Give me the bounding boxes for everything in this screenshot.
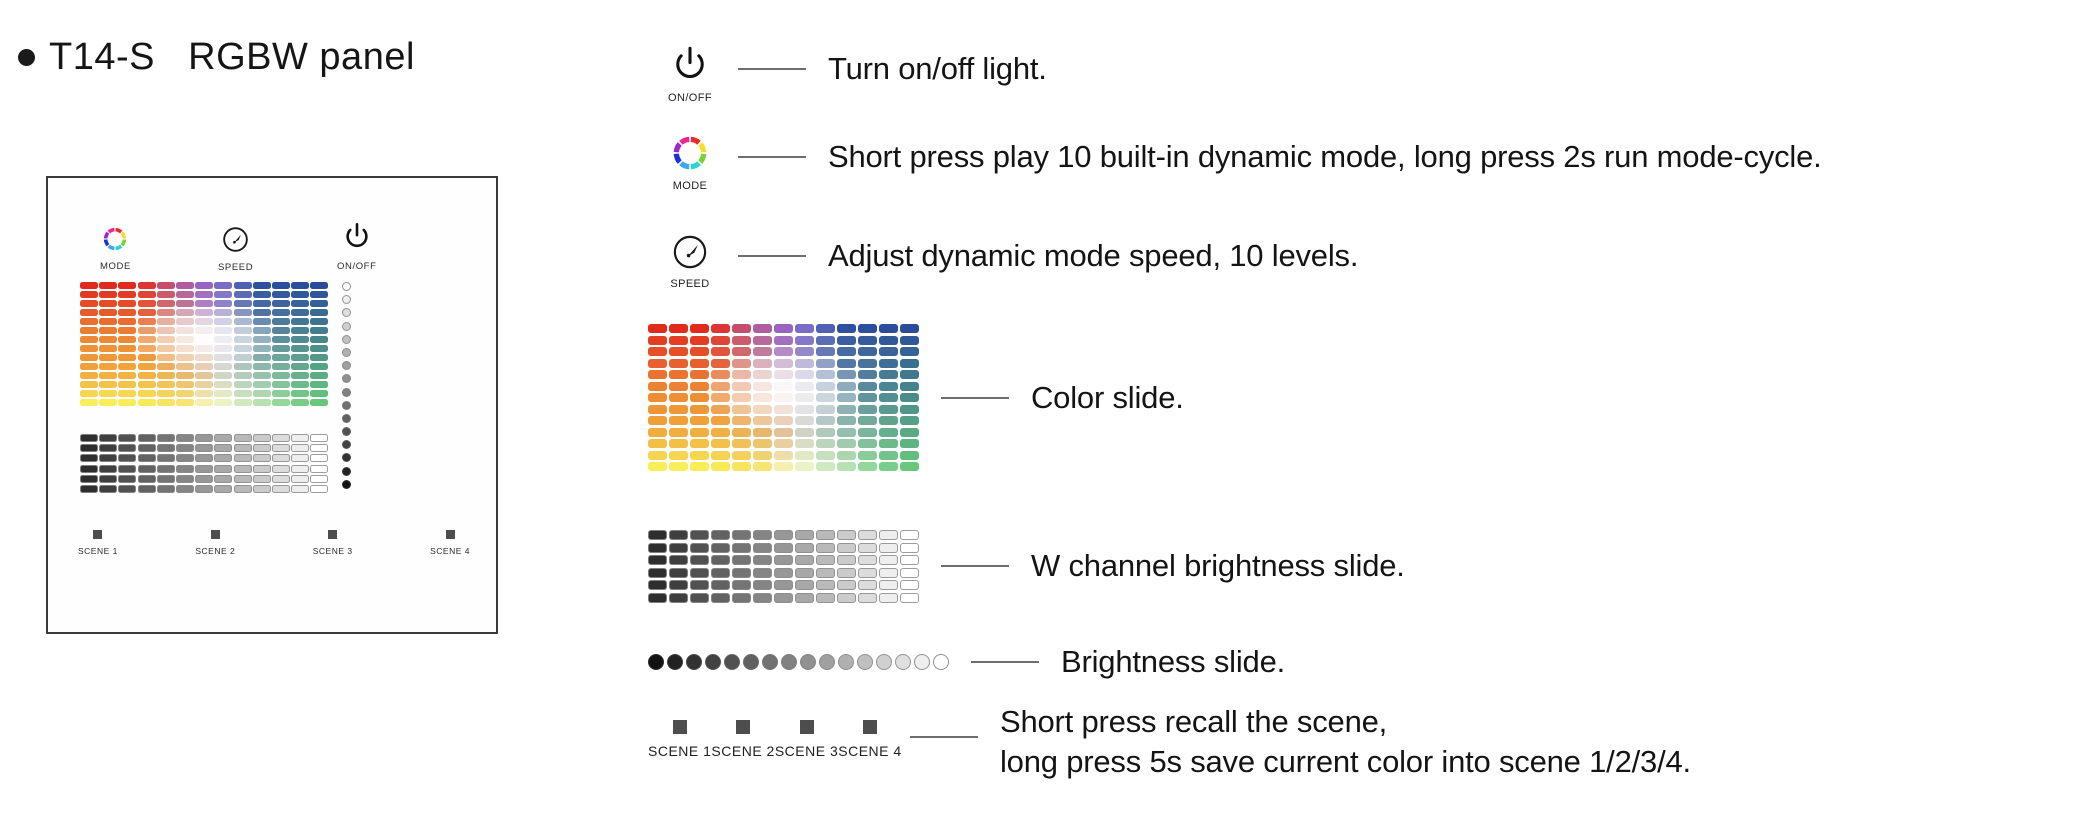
w-brightness-cell[interactable] (99, 475, 117, 483)
color-slide-cell[interactable] (879, 393, 898, 402)
w-brightness-cell[interactable] (753, 530, 772, 540)
w-brightness-cell[interactable] (118, 454, 136, 462)
color-slide-cell[interactable] (157, 354, 175, 361)
brightness-dot[interactable] (342, 374, 351, 383)
w-brightness-cell[interactable] (157, 434, 175, 442)
color-slide-cell[interactable] (80, 309, 98, 316)
w-brightness-cell[interactable] (879, 543, 898, 553)
legend-scene-button[interactable]: SCENE 4 (838, 720, 901, 759)
legend-scene-button[interactable]: SCENE 1 (648, 720, 711, 759)
color-slide-cell[interactable] (272, 291, 290, 298)
w-brightness-cell[interactable] (118, 475, 136, 483)
color-slide-cell[interactable] (837, 405, 856, 414)
w-brightness-cell[interactable] (732, 580, 751, 590)
color-slide-cell[interactable] (795, 324, 814, 333)
panel-scene-button[interactable]: SCENE 1 (78, 530, 118, 556)
color-slide-cell[interactable] (879, 359, 898, 368)
color-slide-cell[interactable] (795, 416, 814, 425)
color-slide-cell[interactable] (732, 439, 751, 448)
color-slide-cell[interactable] (176, 363, 194, 370)
color-slide-cell[interactable] (879, 416, 898, 425)
color-slide-cell[interactable] (253, 309, 271, 316)
color-slide-cell[interactable] (858, 347, 877, 356)
color-slide-cell[interactable] (648, 393, 667, 402)
w-brightness-cell[interactable] (711, 593, 730, 603)
color-slide-cell[interactable] (214, 282, 232, 289)
brightness-dot[interactable] (342, 282, 351, 291)
w-brightness-cell[interactable] (648, 555, 667, 565)
color-slide-cell[interactable] (900, 439, 919, 448)
color-slide-cell[interactable] (195, 336, 213, 343)
brightness-dot[interactable] (724, 654, 740, 670)
color-slide-cell[interactable] (711, 382, 730, 391)
color-slide-cell[interactable] (80, 390, 98, 397)
color-slide-cell[interactable] (732, 382, 751, 391)
w-brightness-cell[interactable] (837, 555, 856, 565)
color-slide-cell[interactable] (118, 372, 136, 379)
panel-w-brightness-grid[interactable] (80, 434, 328, 493)
color-slide-cell[interactable] (669, 428, 688, 437)
w-brightness-cell[interactable] (795, 543, 814, 553)
color-slide-cell[interactable] (80, 327, 98, 334)
w-brightness-cell[interactable] (900, 530, 919, 540)
w-brightness-cell[interactable] (900, 543, 919, 553)
color-slide-cell[interactable] (195, 399, 213, 406)
w-brightness-cell[interactable] (900, 580, 919, 590)
color-slide-cell[interactable] (176, 318, 194, 325)
color-slide-cell[interactable] (291, 291, 309, 298)
color-slide-cell[interactable] (176, 282, 194, 289)
w-brightness-cell[interactable] (157, 465, 175, 473)
color-slide-cell[interactable] (99, 363, 117, 370)
color-slide-cell[interactable] (195, 390, 213, 397)
color-slide-cell[interactable] (690, 324, 709, 333)
color-slide-cell[interactable] (816, 439, 835, 448)
color-slide-cell[interactable] (138, 282, 156, 289)
color-slide-cell[interactable] (291, 363, 309, 370)
color-slide-cell[interactable] (837, 428, 856, 437)
color-slide-cell[interactable] (234, 390, 252, 397)
w-brightness-cell[interactable] (214, 465, 232, 473)
color-slide-cell[interactable] (310, 345, 328, 352)
color-slide-cell[interactable] (214, 309, 232, 316)
color-slide-cell[interactable] (176, 399, 194, 406)
color-slide-cell[interactable] (234, 318, 252, 325)
brightness-dot[interactable] (743, 654, 759, 670)
w-brightness-cell[interactable] (690, 530, 709, 540)
color-slide-cell[interactable] (176, 345, 194, 352)
brightness-dot[interactable] (342, 401, 351, 410)
w-brightness-cell[interactable] (80, 434, 98, 442)
color-slide-cell[interactable] (157, 318, 175, 325)
color-slide-cell[interactable] (176, 390, 194, 397)
color-slide-cell[interactable] (195, 318, 213, 325)
w-brightness-cell[interactable] (291, 444, 309, 452)
color-slide-cell[interactable] (837, 462, 856, 471)
w-brightness-cell[interactable] (795, 568, 814, 578)
brightness-dot[interactable] (342, 414, 351, 423)
brightness-dot[interactable] (800, 654, 816, 670)
color-slide-cell[interactable] (711, 428, 730, 437)
color-slide-cell[interactable] (253, 327, 271, 334)
color-slide-cell[interactable] (291, 372, 309, 379)
brightness-dot[interactable] (342, 348, 351, 357)
color-slide-cell[interactable] (234, 336, 252, 343)
brightness-dot[interactable] (686, 654, 702, 670)
color-slide-cell[interactable] (879, 336, 898, 345)
w-brightness-cell[interactable] (157, 475, 175, 483)
w-brightness-cell[interactable] (118, 434, 136, 442)
brightness-dot[interactable] (667, 654, 683, 670)
w-brightness-cell[interactable] (176, 454, 194, 462)
color-slide-cell[interactable] (99, 300, 117, 307)
color-slide-cell[interactable] (795, 428, 814, 437)
color-slide-cell[interactable] (80, 354, 98, 361)
color-slide-cell[interactable] (879, 382, 898, 391)
color-slide-cell[interactable] (732, 370, 751, 379)
color-slide-cell[interactable] (291, 345, 309, 352)
color-slide-cell[interactable] (753, 324, 772, 333)
color-slide-cell[interactable] (816, 416, 835, 425)
color-slide-cell[interactable] (157, 363, 175, 370)
color-slide-cell[interactable] (753, 393, 772, 402)
w-brightness-cell[interactable] (732, 543, 751, 553)
color-slide-cell[interactable] (690, 370, 709, 379)
color-slide-cell[interactable] (272, 318, 290, 325)
color-slide-cell[interactable] (753, 347, 772, 356)
w-brightness-cell[interactable] (310, 434, 328, 442)
w-brightness-cell[interactable] (837, 568, 856, 578)
color-slide-cell[interactable] (272, 300, 290, 307)
color-slide-cell[interactable] (900, 347, 919, 356)
w-brightness-cell[interactable] (80, 454, 98, 462)
color-slide-cell[interactable] (816, 428, 835, 437)
color-slide-cell[interactable] (732, 336, 751, 345)
color-slide-cell[interactable] (900, 370, 919, 379)
color-slide-cell[interactable] (648, 370, 667, 379)
color-slide-cell[interactable] (176, 354, 194, 361)
color-slide-cell[interactable] (291, 390, 309, 397)
color-slide-cell[interactable] (272, 372, 290, 379)
w-brightness-cell[interactable] (176, 485, 194, 493)
w-brightness-cell[interactable] (669, 580, 688, 590)
w-brightness-cell[interactable] (900, 568, 919, 578)
w-brightness-cell[interactable] (690, 543, 709, 553)
brightness-dot[interactable] (819, 654, 835, 670)
color-slide-cell[interactable] (291, 309, 309, 316)
w-brightness-cell[interactable] (234, 434, 252, 442)
brightness-dot[interactable] (895, 654, 911, 670)
color-slide-cell[interactable] (669, 405, 688, 414)
w-brightness-cell[interactable] (858, 580, 877, 590)
w-brightness-cell[interactable] (753, 593, 772, 603)
color-slide-cell[interactable] (753, 451, 772, 460)
color-slide-cell[interactable] (648, 324, 667, 333)
color-slide-cell[interactable] (176, 327, 194, 334)
color-slide-cell[interactable] (711, 439, 730, 448)
color-slide-cell[interactable] (690, 393, 709, 402)
color-slide-cell[interactable] (291, 354, 309, 361)
panel-scene-button[interactable]: SCENE 4 (430, 530, 470, 556)
color-slide-cell[interactable] (157, 291, 175, 298)
w-brightness-cell[interactable] (291, 465, 309, 473)
color-slide-cell[interactable] (648, 416, 667, 425)
w-brightness-cell[interactable] (272, 444, 290, 452)
color-slide-cell[interactable] (118, 309, 136, 316)
color-slide-cell[interactable] (272, 363, 290, 370)
color-slide-cell[interactable] (795, 347, 814, 356)
color-slide-cell[interactable] (157, 282, 175, 289)
color-slide-cell[interactable] (310, 309, 328, 316)
w-brightness-cell[interactable] (795, 555, 814, 565)
panel-brightness-slide[interactable] (342, 282, 351, 489)
color-slide-cell[interactable] (795, 370, 814, 379)
w-brightness-cell[interactable] (774, 568, 793, 578)
w-brightness-cell[interactable] (900, 555, 919, 565)
color-slide-cell[interactable] (176, 372, 194, 379)
color-slide-cell[interactable] (900, 393, 919, 402)
color-slide-cell[interactable] (711, 359, 730, 368)
w-brightness-cell[interactable] (711, 580, 730, 590)
w-brightness-cell[interactable] (795, 593, 814, 603)
color-slide-cell[interactable] (234, 327, 252, 334)
color-slide-cell[interactable] (648, 336, 667, 345)
w-brightness-cell[interactable] (253, 485, 271, 493)
color-slide-cell[interactable] (879, 405, 898, 414)
w-brightness-cell[interactable] (669, 543, 688, 553)
w-brightness-cell[interactable] (253, 454, 271, 462)
color-slide-cell[interactable] (858, 393, 877, 402)
color-slide-cell[interactable] (234, 363, 252, 370)
w-brightness-cell[interactable] (176, 444, 194, 452)
color-slide-cell[interactable] (648, 405, 667, 414)
color-slide-cell[interactable] (99, 390, 117, 397)
brightness-dot[interactable] (342, 467, 351, 476)
color-slide-cell[interactable] (858, 451, 877, 460)
brightness-dot[interactable] (648, 654, 664, 670)
w-brightness-cell[interactable] (80, 475, 98, 483)
color-slide-cell[interactable] (795, 439, 814, 448)
color-slide-cell[interactable] (753, 370, 772, 379)
color-slide-cell[interactable] (690, 462, 709, 471)
color-slide-cell[interactable] (669, 462, 688, 471)
legend-scene-button[interactable]: SCENE 2 (711, 720, 774, 759)
color-slide-cell[interactable] (837, 382, 856, 391)
color-slide-cell[interactable] (837, 359, 856, 368)
brightness-dot[interactable] (342, 322, 351, 331)
color-slide-cell[interactable] (310, 354, 328, 361)
color-slide-cell[interactable] (253, 345, 271, 352)
panel-color-slide-grid[interactable] (80, 282, 328, 406)
color-slide-cell[interactable] (310, 291, 328, 298)
color-slide-cell[interactable] (690, 347, 709, 356)
color-slide-cell[interactable] (214, 345, 232, 352)
color-slide-cell[interactable] (774, 462, 793, 471)
color-slide-cell[interactable] (291, 399, 309, 406)
w-brightness-cell[interactable] (879, 593, 898, 603)
color-slide-cell[interactable] (711, 416, 730, 425)
w-brightness-cell[interactable] (310, 475, 328, 483)
color-slide-cell[interactable] (80, 381, 98, 388)
color-slide-cell[interactable] (795, 451, 814, 460)
legend-figure-w-grid[interactable] (648, 530, 919, 603)
color-slide-cell[interactable] (80, 363, 98, 370)
color-slide-cell[interactable] (99, 399, 117, 406)
color-slide-cell[interactable] (234, 399, 252, 406)
color-slide-cell[interactable] (138, 372, 156, 379)
color-slide-cell[interactable] (195, 345, 213, 352)
w-brightness-cell[interactable] (774, 593, 793, 603)
color-slide-cell[interactable] (774, 336, 793, 345)
color-slide-cell[interactable] (118, 399, 136, 406)
w-brightness-cell[interactable] (711, 530, 730, 540)
w-brightness-cell[interactable] (711, 568, 730, 578)
color-slide-cell[interactable] (176, 381, 194, 388)
color-slide-cell[interactable] (195, 291, 213, 298)
color-slide-cell[interactable] (732, 451, 751, 460)
color-slide-cell[interactable] (879, 370, 898, 379)
w-brightness-cell[interactable] (858, 543, 877, 553)
brightness-dot[interactable] (342, 427, 351, 436)
brightness-dot[interactable] (342, 335, 351, 344)
color-slide-cell[interactable] (711, 347, 730, 356)
color-slide-cell[interactable] (669, 347, 688, 356)
color-slide-cell[interactable] (711, 451, 730, 460)
w-brightness-cell[interactable] (253, 444, 271, 452)
color-slide-cell[interactable] (690, 416, 709, 425)
color-slide-cell[interactable] (272, 282, 290, 289)
color-slide-cell[interactable] (138, 381, 156, 388)
color-slide-cell[interactable] (138, 390, 156, 397)
legend-figure-speed[interactable]: SPEED (648, 234, 732, 290)
color-slide-cell[interactable] (195, 327, 213, 334)
w-brightness-cell[interactable] (272, 465, 290, 473)
w-brightness-cell[interactable] (648, 568, 667, 578)
w-brightness-cell[interactable] (157, 454, 175, 462)
w-brightness-cell[interactable] (795, 580, 814, 590)
color-slide-cell[interactable] (879, 462, 898, 471)
w-brightness-cell[interactable] (310, 465, 328, 473)
color-slide-cell[interactable] (837, 439, 856, 448)
brightness-dot[interactable] (342, 308, 351, 317)
color-slide-cell[interactable] (99, 372, 117, 379)
w-brightness-cell[interactable] (774, 555, 793, 565)
color-slide-cell[interactable] (176, 291, 194, 298)
legend-scene-button[interactable]: SCENE 3 (775, 720, 838, 759)
w-brightness-cell[interactable] (176, 434, 194, 442)
color-slide-cell[interactable] (732, 462, 751, 471)
color-slide-cell[interactable] (795, 462, 814, 471)
w-brightness-cell[interactable] (795, 530, 814, 540)
color-slide-cell[interactable] (732, 359, 751, 368)
color-slide-cell[interactable] (837, 393, 856, 402)
color-slide-cell[interactable] (879, 324, 898, 333)
color-slide-cell[interactable] (138, 300, 156, 307)
w-brightness-cell[interactable] (195, 454, 213, 462)
color-slide-cell[interactable] (195, 309, 213, 316)
w-brightness-cell[interactable] (648, 593, 667, 603)
w-brightness-cell[interactable] (214, 454, 232, 462)
color-slide-cell[interactable] (214, 381, 232, 388)
color-slide-cell[interactable] (310, 336, 328, 343)
legend-figure-mode[interactable]: MODE (648, 134, 732, 192)
w-brightness-cell[interactable] (138, 485, 156, 493)
color-slide-cell[interactable] (711, 370, 730, 379)
color-slide-cell[interactable] (690, 439, 709, 448)
w-brightness-cell[interactable] (816, 543, 835, 553)
color-slide-cell[interactable] (774, 382, 793, 391)
w-brightness-cell[interactable] (816, 580, 835, 590)
color-slide-cell[interactable] (214, 336, 232, 343)
w-brightness-cell[interactable] (732, 555, 751, 565)
color-slide-cell[interactable] (253, 282, 271, 289)
color-slide-cell[interactable] (753, 382, 772, 391)
color-slide-cell[interactable] (310, 390, 328, 397)
color-slide-cell[interactable] (138, 318, 156, 325)
w-brightness-cell[interactable] (138, 434, 156, 442)
color-slide-cell[interactable] (80, 399, 98, 406)
color-slide-cell[interactable] (176, 309, 194, 316)
brightness-dot[interactable] (342, 453, 351, 462)
legend-figure-brightness-dots[interactable] (648, 654, 949, 670)
panel-button-speed[interactable]: SPEED (218, 226, 253, 273)
w-brightness-cell[interactable] (732, 568, 751, 578)
color-slide-cell[interactable] (157, 381, 175, 388)
color-slide-cell[interactable] (816, 370, 835, 379)
w-brightness-cell[interactable] (753, 580, 772, 590)
w-brightness-cell[interactable] (118, 485, 136, 493)
color-slide-cell[interactable] (858, 336, 877, 345)
color-slide-cell[interactable] (272, 354, 290, 361)
color-slide-cell[interactable] (753, 405, 772, 414)
w-brightness-cell[interactable] (753, 555, 772, 565)
w-brightness-cell[interactable] (732, 530, 751, 540)
color-slide-cell[interactable] (879, 451, 898, 460)
color-slide-cell[interactable] (80, 300, 98, 307)
w-brightness-cell[interactable] (669, 593, 688, 603)
color-slide-cell[interactable] (816, 324, 835, 333)
w-brightness-cell[interactable] (291, 485, 309, 493)
color-slide-cell[interactable] (816, 347, 835, 356)
color-slide-cell[interactable] (272, 345, 290, 352)
color-slide-cell[interactable] (795, 359, 814, 368)
color-slide-cell[interactable] (753, 359, 772, 368)
color-slide-cell[interactable] (774, 370, 793, 379)
color-slide-cell[interactable] (176, 336, 194, 343)
w-brightness-cell[interactable] (858, 555, 877, 565)
color-slide-cell[interactable] (310, 327, 328, 334)
panel-button-onoff[interactable]: ON/OFF (337, 222, 377, 272)
color-slide-cell[interactable] (195, 372, 213, 379)
color-slide-cell[interactable] (80, 345, 98, 352)
color-slide-cell[interactable] (234, 309, 252, 316)
w-brightness-cell[interactable] (774, 543, 793, 553)
color-slide-cell[interactable] (816, 393, 835, 402)
w-brightness-cell[interactable] (690, 568, 709, 578)
color-slide-cell[interactable] (99, 381, 117, 388)
color-slide-cell[interactable] (291, 327, 309, 334)
color-slide-cell[interactable] (157, 390, 175, 397)
color-slide-cell[interactable] (669, 439, 688, 448)
legend-figure-color-grid[interactable] (648, 324, 919, 471)
color-slide-cell[interactable] (900, 382, 919, 391)
color-slide-cell[interactable] (774, 451, 793, 460)
color-slide-cell[interactable] (774, 439, 793, 448)
w-brightness-cell[interactable] (214, 475, 232, 483)
color-slide-cell[interactable] (157, 309, 175, 316)
color-slide-cell[interactable] (253, 399, 271, 406)
brightness-dot[interactable] (342, 480, 351, 489)
